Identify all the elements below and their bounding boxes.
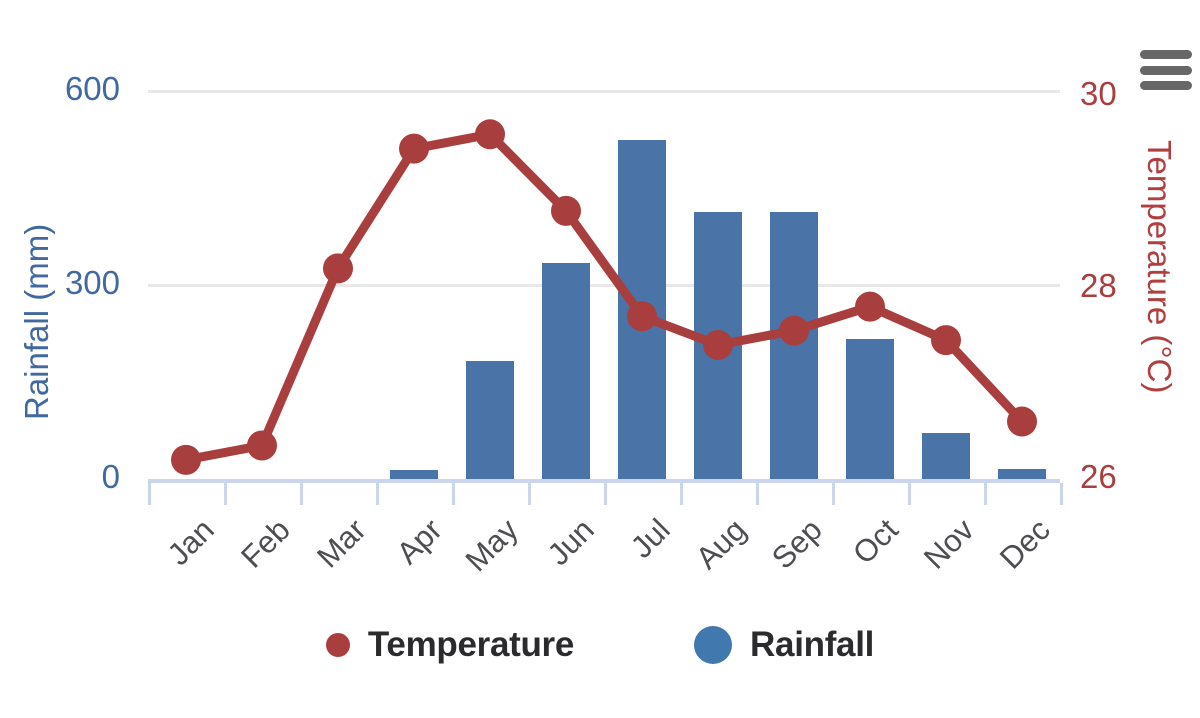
temperature-line-path	[186, 134, 1022, 460]
x-axis-tick	[832, 483, 835, 505]
x-axis-tick	[300, 483, 303, 505]
x-axis-tick	[1060, 483, 1063, 505]
x-axis-tick	[604, 483, 607, 505]
x-axis-tick	[680, 483, 683, 505]
temperature-point-sep[interactable]: Sep: 27.55°C	[779, 316, 809, 346]
temperature-point-dec[interactable]: Dec: 26.6°C	[1007, 407, 1037, 437]
x-axis-tick	[376, 483, 379, 505]
temperature-point-nov[interactable]: Nov: 27.45°C	[931, 325, 961, 355]
temperature-point-jun[interactable]: Jun: 28.8°C	[551, 196, 581, 226]
temperature-point-jul[interactable]: Jul: 27.7°C	[627, 301, 657, 331]
x-axis-tick	[148, 483, 151, 505]
x-axis-tick	[452, 483, 455, 505]
legend-label-temperature: Temperature	[368, 625, 574, 665]
temperature-point-may[interactable]: May: 29.6°C	[475, 119, 505, 149]
temperature-point-mar[interactable]: Mar: 28.2°C	[323, 253, 353, 283]
temperature-point-apr[interactable]: Apr: 29.45°C	[399, 134, 429, 164]
temperature-point-feb[interactable]: Feb: 26.35°C	[247, 430, 277, 460]
x-axis-tick	[756, 483, 759, 505]
chart-legend: Temperature Rainfall	[0, 625, 1200, 665]
rainfall-temperature-chart: Rainfall (mm) Temperature (°C) 0300600 2…	[0, 0, 1200, 718]
legend-label-rainfall: Rainfall	[750, 625, 874, 665]
legend-marker-rainfall-icon	[694, 626, 732, 664]
x-axis-tick	[984, 483, 987, 505]
temperature-point-oct[interactable]: Oct: 27.8°C	[855, 292, 885, 322]
temperature-point-aug[interactable]: Aug: 27.4°C	[703, 330, 733, 360]
legend-marker-temperature-icon	[326, 633, 350, 657]
x-axis-tick	[908, 483, 911, 505]
legend-item-temperature[interactable]: Temperature	[326, 625, 574, 665]
temperature-point-jan[interactable]: Jan: 26.2°C	[171, 445, 201, 475]
legend-item-rainfall[interactable]: Rainfall	[694, 625, 874, 665]
x-axis-tick	[528, 483, 531, 505]
x-axis-tick	[224, 483, 227, 505]
